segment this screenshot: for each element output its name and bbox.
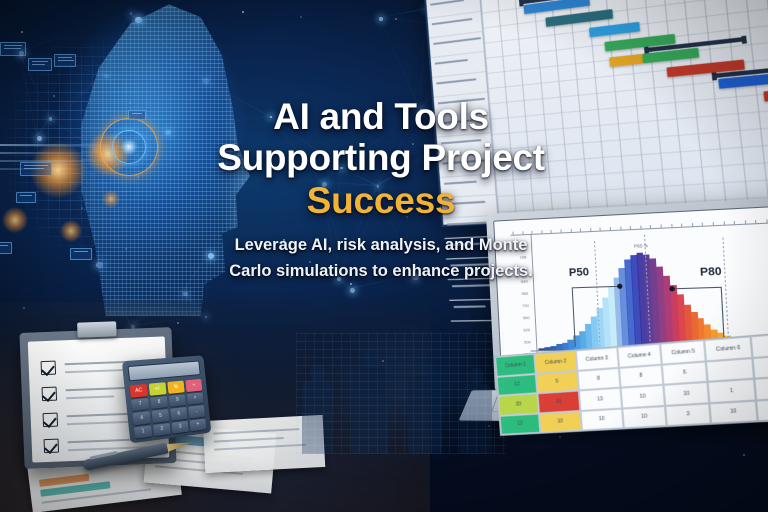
calculator-key[interactable]: 9 [169,394,186,407]
calculator-key[interactable]: 8 [150,396,168,409]
headline-accent: Success [196,179,566,223]
chart-top-tick [570,229,571,232]
risk-matrix-cell: 5 [536,370,578,393]
calculator-key[interactable]: 3 [172,420,189,433]
calculator-key[interactable]: 4 [132,411,150,425]
gantt-gridline-v [721,0,749,209]
headline-block: AI and Tools Supporting Project Success … [196,96,566,284]
calculator-function-key[interactable]: % [167,381,184,394]
gantt-task-row [428,17,482,39]
gantt-task-bar [589,22,640,38]
calculator-key[interactable]: - [188,405,205,418]
subtitle-line-2: Carlo simulations to enhance projects. [196,260,566,284]
gantt-task-bar [545,9,612,27]
gantt-task-row [429,37,483,58]
calculator-function-key[interactable]: AC [130,384,148,397]
chart-y-tick-label: 560 [521,291,528,296]
headline-line-1: AI and Tools [196,96,566,137]
gantt-task-row [431,57,486,78]
calculator-key[interactable]: × [187,392,204,405]
calculator-key[interactable]: 7 [131,398,149,412]
network-edge [379,8,426,18]
calculator-key[interactable]: 6 [170,407,187,420]
chart-top-tick [661,225,662,228]
neural-glow-node [60,220,82,242]
chart-top-tick [681,224,682,227]
risk-matrix-cell [756,397,768,421]
checklist-checkbox[interactable] [41,361,57,376]
silhouette-grid-overlay [296,332,506,454]
chart-top-tick [610,227,611,230]
data-chip [16,192,36,203]
chart-top-tick [630,226,631,229]
gantt-task-row [433,77,488,98]
chart-top-tick [723,221,724,224]
checklist-text-line [66,395,114,398]
chart-top-tick [702,223,703,226]
gantt-gridline-v [741,0,768,208]
peak-value-label: P65 % [634,243,648,249]
chart-top-tick [590,228,591,231]
data-chip [70,248,92,260]
clipboard-clip [77,321,117,338]
risk-matrix-cell: 10 [620,385,665,408]
risk-matrix-cell: 10 [539,411,581,433]
chart-top-tick [755,220,756,223]
calculator-key[interactable]: 1 [134,425,152,439]
checklist-checkbox[interactable] [42,387,58,402]
calculator[interactable]: AC+/-%÷789×456-123+ [122,355,212,443]
data-chip [0,42,26,56]
p50-marker-dot [617,284,623,289]
business-people-silhouettes [296,332,506,454]
data-beam [0,144,122,146]
data-chip [0,242,12,254]
risk-matrix-cell: 8 [619,364,664,388]
data-chip [128,110,146,120]
gantt-task-row [426,0,480,19]
gantt-task-bar [763,84,768,101]
risk-matrix-cell: 1 [708,379,756,403]
chart-y-tick-label: 500 [524,339,531,344]
risk-matrix-cell: 13 [578,388,622,411]
chart-top-tick [640,226,641,229]
calculator-keypad[interactable]: AC+/-%÷789×456-123+ [130,379,207,439]
risk-matrix-cell [752,354,768,379]
calculator-function-key[interactable]: ÷ [185,379,202,392]
chart-top-tick [745,220,746,223]
calculator-key[interactable]: 2 [153,422,171,436]
neural-glow-node [2,207,28,233]
gantt-gridline-v [661,0,687,212]
chart-top-tick [713,222,714,225]
chart-top-tick [766,219,767,222]
data-beam [0,152,104,154]
risk-matrix-cell [706,358,754,382]
chart-y-tick-label: 550 [523,315,530,320]
calculator-key[interactable]: 5 [152,409,170,422]
risk-matrix-cell [754,376,768,400]
neural-glow-node [102,190,120,208]
risk-matrix-cell: 10 [710,400,758,424]
risk-matrix-cell: 8 [577,367,621,390]
calculator-key[interactable]: + [190,418,207,431]
calculator-function-key[interactable]: +/- [149,382,167,395]
calculator-display [128,360,201,381]
headline-line-2: Supporting Project [196,137,566,178]
risk-matrix-cell: 10 [664,382,710,406]
subtitle-line-1: Leverage AI, risk analysis, and Monte [196,234,566,258]
risk-matrix-cell: 20 [538,390,580,412]
risk-matrix-cell: 6 [662,361,708,385]
risk-matrix-cell [750,333,768,358]
checklist-checkbox[interactable] [43,413,59,428]
checklist-checkbox[interactable] [44,439,60,454]
risk-matrix-cell: 10 [622,405,667,428]
chart-top-tick [620,226,621,229]
risk-matrix-cell: 10 [580,408,624,431]
chart-top-tick [671,224,672,227]
p80-marker-dot [669,286,675,291]
data-chip [54,54,76,67]
p50-label: P50 [569,266,590,279]
chart-top-tick [600,227,601,230]
risk-matrix-cell: 3 [665,403,711,426]
chart-top-tick [692,223,693,226]
background-spark [300,16,302,18]
p80-label: P80 [700,265,722,279]
gantt-task-bar [609,54,643,67]
data-chip [28,58,52,71]
chart-y-tick-label: 700 [522,303,529,308]
poster-canvas: Qtr 1Qtr 2Qtr 3Qtr 4JanFebMarAprMayJun 2… [0,0,768,512]
gantt-gridline-v [642,0,667,213]
chart-y-tick-label: 620 [523,327,530,332]
data-chip [20,162,52,176]
neural-core-dot [120,138,138,156]
chart-top-tick [580,228,581,231]
chart-top-tick [650,225,651,228]
chart-top-tick [734,221,735,224]
